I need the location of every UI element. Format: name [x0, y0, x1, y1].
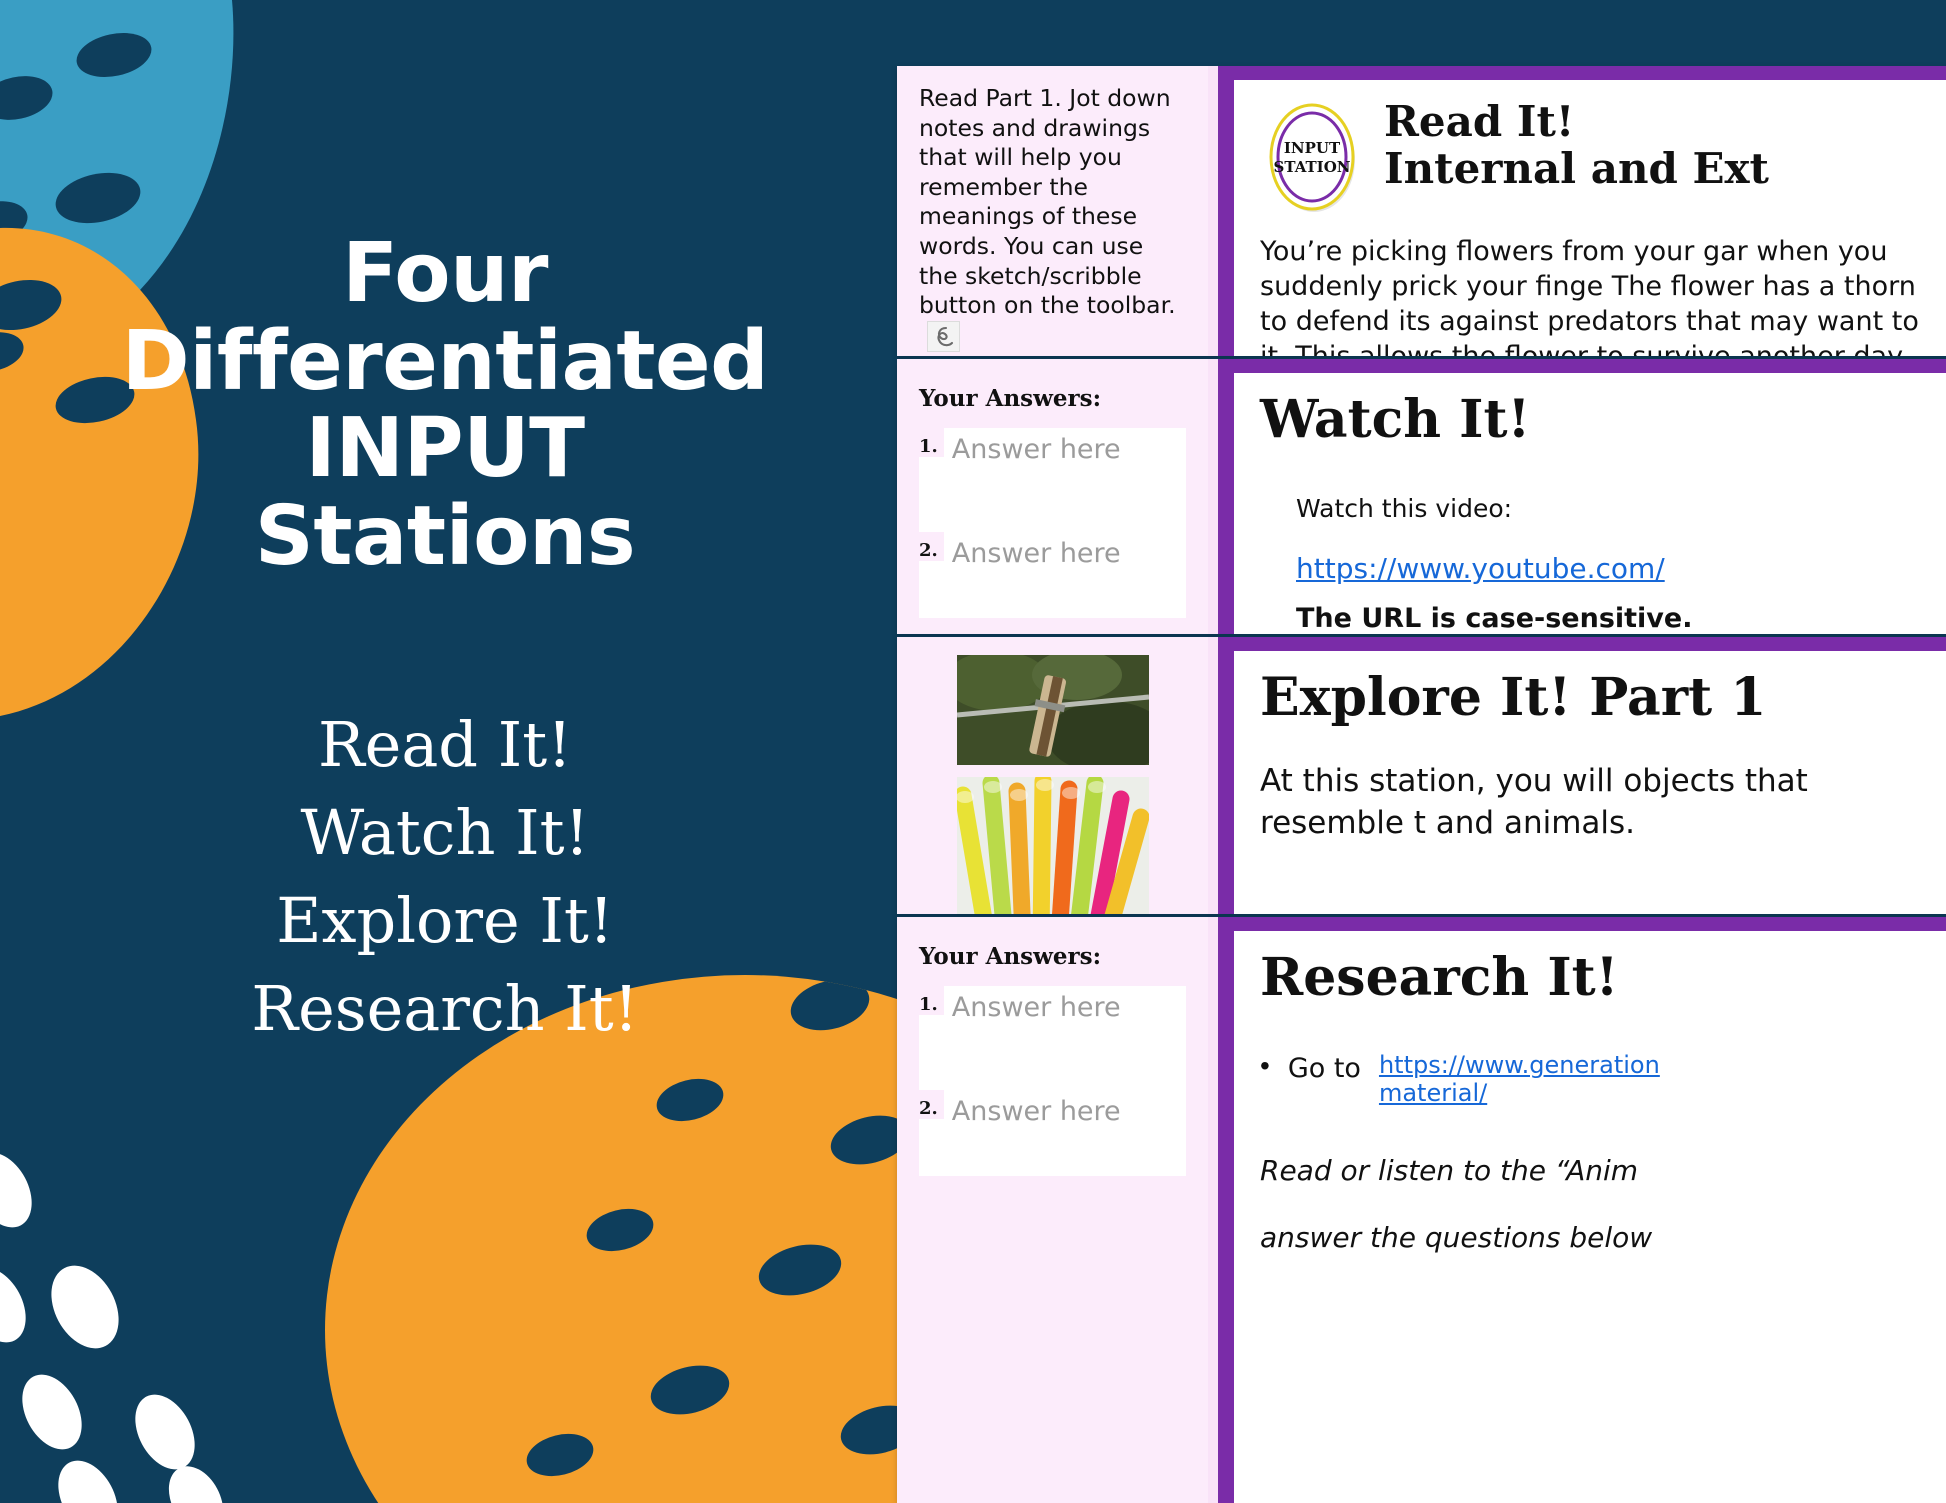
read-it-heading: Read It! Internal and Ext [1384, 98, 1769, 192]
research-link-line-2[interactable]: material/ [1379, 1079, 1660, 1107]
answer-input[interactable]: Answer here [944, 428, 1186, 465]
read-it-student-pane: Read Part 1. Jot down notes and drawings… [897, 66, 1208, 356]
answer-input[interactable]: Answer here [944, 1090, 1186, 1127]
title-line-3: INPUT [65, 405, 825, 493]
read-it-header-row: INPUT STATION Read It! Internal and Ext [1260, 98, 1924, 216]
read-it-body-text: You’re picking flowers from your gar whe… [1260, 234, 1924, 356]
read-it-content-pane: INPUT STATION Read It! Internal and Ext … [1218, 66, 1946, 356]
answer-row[interactable]: 1. Answer here [919, 986, 1186, 1090]
read-it-prompt: Read Part 1. Jot down notes and drawings… [919, 84, 1186, 352]
explore-it-student-pane [897, 637, 1208, 914]
answer-input[interactable]: Answer here [944, 986, 1186, 1023]
title-line-2: Differentiated [65, 318, 825, 406]
slide-card-watch-it[interactable]: Your Answers: 1. Answer here 2. Answer h… [897, 359, 1946, 634]
station-list-item-watch-it: Watch It! [65, 789, 825, 877]
answer-number: 2. [919, 1090, 944, 1119]
page-title: Four Differentiated INPUT Stations [65, 230, 825, 581]
drinking-straws-photo [957, 777, 1149, 914]
explore-it-body-text: At this station, you will objects that r… [1260, 761, 1924, 845]
youtube-link[interactable]: https://www.youtube.com/ [1296, 552, 1924, 585]
research-it-content-pane: Research It! • Go to https://www.generat… [1218, 917, 1946, 1503]
slide-deck-preview: Read Part 1. Jot down notes and drawings… [897, 0, 1946, 1503]
explore-it-heading: Explore It! Part 1 [1260, 669, 1924, 727]
research-it-student-pane: Your Answers: 1. Answer here 2. Answer h… [897, 917, 1208, 1503]
input-station-seal-icon: INPUT STATION [1260, 98, 1364, 216]
research-it-heading: Research It! [1260, 949, 1924, 1007]
pane-divider [1208, 359, 1218, 634]
research-it-bullet: • Go to https://www.generation material/ [1260, 1051, 1924, 1107]
bullet-dot-icon: • [1260, 1051, 1270, 1082]
station-list: Read It! Watch It! Explore It! Research … [65, 701, 825, 1053]
station-list-item-research-it: Research It! [65, 965, 825, 1053]
scribble-icon[interactable] [927, 321, 960, 352]
promo-panel: Four Differentiated INPUT Stations Read … [0, 0, 890, 1503]
watch-it-answers-label: Your Answers: [919, 385, 1186, 412]
pane-divider [1208, 637, 1218, 914]
answer-input[interactable]: Answer here [944, 532, 1186, 569]
svg-text:STATION: STATION [1274, 158, 1351, 176]
answer-number: 1. [919, 428, 944, 457]
answer-row[interactable]: 2. Answer here [919, 1090, 1186, 1176]
research-it-bullet-prefix: Go to [1288, 1051, 1361, 1086]
answer-number: 2. [919, 532, 944, 561]
slide-card-research-it[interactable]: Your Answers: 1. Answer here 2. Answer h… [897, 917, 1946, 1503]
watch-it-student-pane: Your Answers: 1. Answer here 2. Answer h… [897, 359, 1208, 634]
watch-it-heading: Watch It! [1260, 391, 1924, 449]
research-it-italic-line-2: answer the questions below [1260, 1218, 1924, 1259]
research-it-answers-label: Your Answers: [919, 943, 1186, 970]
research-link-line-1[interactable]: https://www.generation [1379, 1051, 1660, 1079]
station-list-item-read-it: Read It! [65, 701, 825, 789]
pane-divider [1208, 917, 1218, 1503]
research-it-italic-line-1: Read or listen to the “Anim [1260, 1151, 1924, 1192]
explore-it-content-pane: Explore It! Part 1 At this station, you … [1218, 637, 1946, 914]
answer-number: 1. [919, 986, 944, 1015]
answer-row[interactable]: 2. Answer here [919, 532, 1186, 618]
answer-row[interactable]: 1. Answer here [919, 428, 1186, 532]
watch-it-intro: Watch this video: [1296, 493, 1924, 526]
slide-card-read-it[interactable]: Read Part 1. Jot down notes and drawings… [897, 66, 1946, 356]
url-case-note: The URL is case-sensitive. [1296, 603, 1924, 634]
slide-card-explore-it[interactable]: Explore It! Part 1 At this station, you … [897, 637, 1946, 914]
read-it-heading-line-2: Internal and Ext [1384, 145, 1769, 192]
watch-it-content-pane: Watch It! Watch this video: https://www.… [1218, 359, 1946, 634]
research-link-wrap[interactable]: https://www.generation material/ [1379, 1051, 1660, 1107]
clothespin-photo [957, 655, 1149, 765]
svg-text:INPUT: INPUT [1284, 139, 1341, 157]
title-line-1: Four [65, 230, 825, 318]
title-line-4: Stations [65, 493, 825, 581]
pane-divider [1208, 66, 1218, 356]
station-list-item-explore-it: Explore It! [65, 877, 825, 965]
read-it-heading-line-1: Read It! [1384, 98, 1769, 145]
